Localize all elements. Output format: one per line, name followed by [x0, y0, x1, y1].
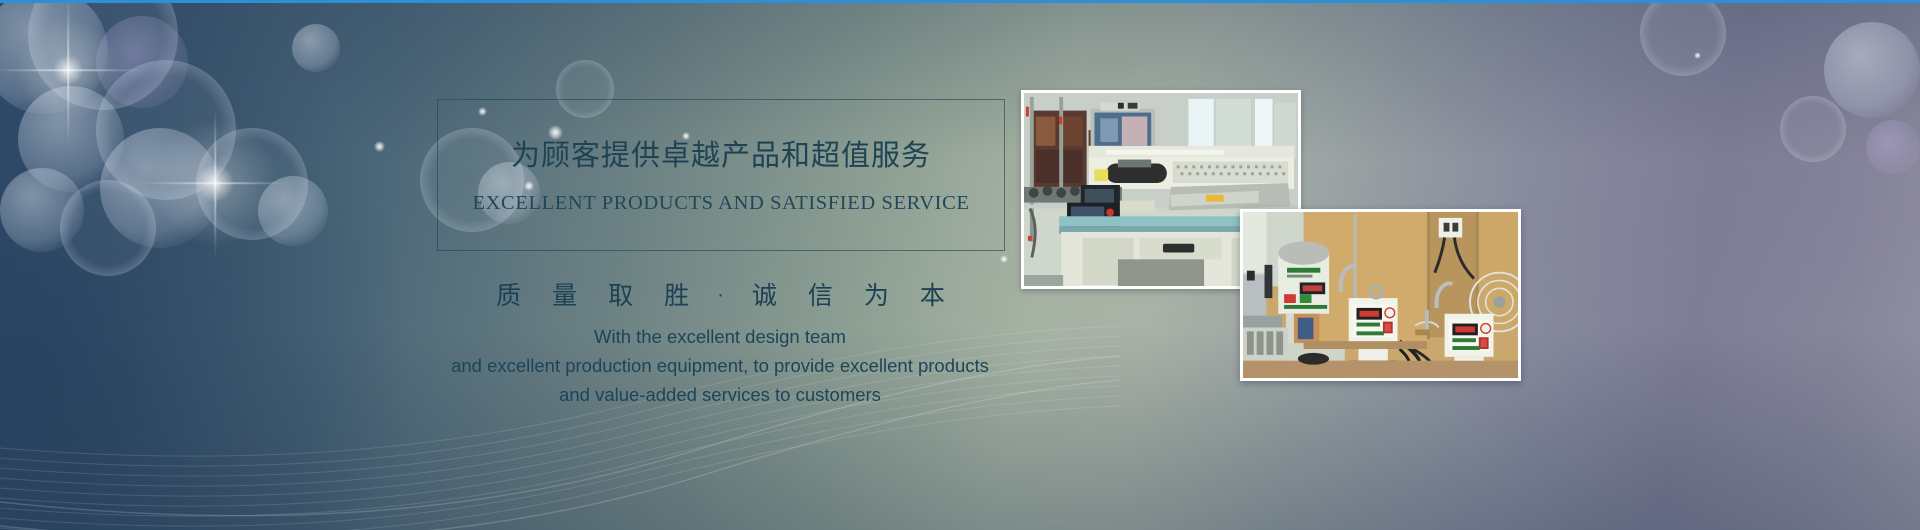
- photo-press-machines-image: [1243, 212, 1518, 380]
- paragraph-line: and excellent production equipment, to p…: [370, 351, 1070, 380]
- top-accent-line: [0, 0, 1920, 3]
- headline-english: EXCELLENT PRODUCTS AND SATISFIED SERVICE: [437, 192, 1005, 215]
- paragraph-line: and value-added services to customers: [370, 380, 1070, 409]
- slogan-char: 量: [537, 276, 593, 312]
- headline-frame: [437, 99, 1005, 251]
- slogan-char: 取: [593, 276, 649, 312]
- description-paragraph: With the excellent design team and excel…: [370, 322, 1070, 409]
- slogan-separator-dot: ·: [705, 284, 737, 307]
- slogan-chinese: 质量取胜·诚信为本: [437, 276, 1005, 312]
- text-content: 为顾客提供卓越产品和超值服务 EXCELLENT PRODUCTS AND SA…: [0, 0, 1050, 530]
- slogan-char: 质: [481, 276, 537, 312]
- photo-press-machines: [1240, 209, 1521, 381]
- slogan-char: 本: [905, 276, 961, 312]
- slogan-char: 胜: [649, 276, 705, 312]
- paragraph-line: With the excellent design team: [370, 322, 1070, 351]
- slogan-char: 为: [849, 276, 905, 312]
- slogan-char: 诚: [737, 276, 793, 312]
- slogan-char: 信: [793, 276, 849, 312]
- headline-chinese: 为顾客提供卓越产品和超值服务: [437, 132, 1005, 174]
- promo-banner: 为顾客提供卓越产品和超值服务 EXCELLENT PRODUCTS AND SA…: [0, 0, 1920, 530]
